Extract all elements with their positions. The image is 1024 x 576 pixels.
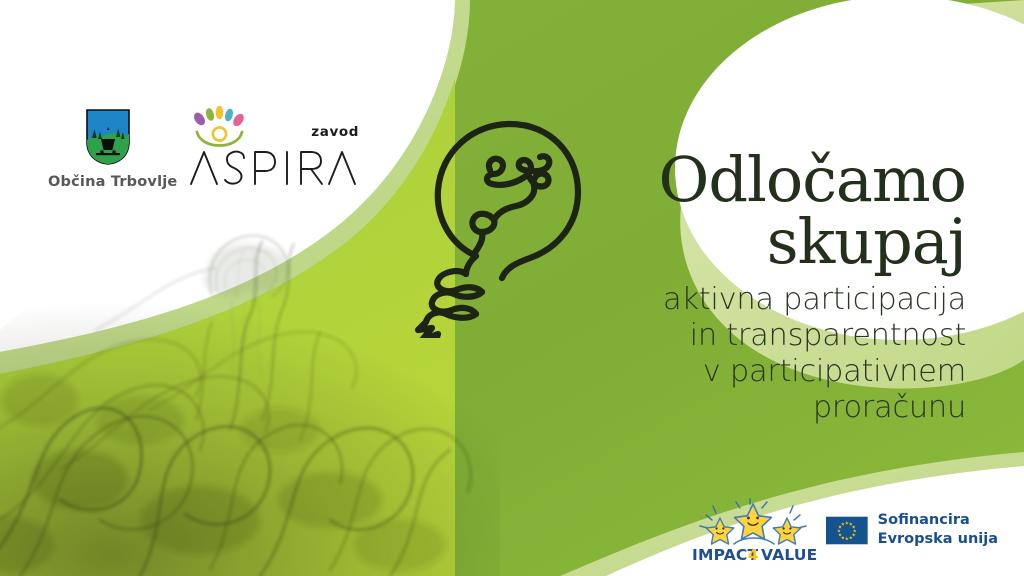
- aspira-mark-icon: zavod: [185, 106, 360, 192]
- subheadline-line-1: aktivna participacija: [536, 282, 966, 318]
- impact-separator-4: 4: [748, 546, 759, 564]
- subheadline-line-3: v participativnem: [536, 354, 966, 390]
- promotional-banner: Občina Trbovlje zavod: [0, 0, 1024, 576]
- values-word: VALUES: [761, 546, 818, 564]
- eu-cofunding-text: Sofinancira Evropska unija: [878, 511, 998, 548]
- obcina-trbovlje-logo[interactable]: Občina Trbovlje: [48, 108, 168, 190]
- subheadline-line-4: proračunu: [536, 390, 966, 426]
- partner-logos-top: Občina Trbovlje zavod: [0, 108, 380, 208]
- eu-text-line-2: Evropska unija: [878, 530, 998, 549]
- eu-flag-icon: [826, 506, 868, 555]
- headline: Odločamo skupaj: [546, 150, 966, 271]
- eu-cofunding-logo[interactable]: Sofinancira Evropska unija: [826, 506, 998, 554]
- trbovlje-crest-icon: [85, 108, 131, 166]
- headline-line-2: skupaj: [546, 212, 966, 272]
- funding-logos: IMPACT 4 VALUES: [690, 498, 1000, 568]
- subheadline: aktivna participacija in transparentnost…: [536, 282, 966, 426]
- obcina-trbovlje-label: Občina Trbovlje: [48, 174, 168, 190]
- headline-line-1: Odločamo: [546, 150, 966, 210]
- zavod-aspira-logo[interactable]: zavod: [185, 106, 360, 192]
- svg-text:zavod: zavod: [311, 124, 359, 140]
- subheadline-line-2: in transparentnost: [536, 318, 966, 354]
- impact4values-logo[interactable]: IMPACT 4 VALUES: [690, 498, 818, 564]
- eu-text-line-1: Sofinancira: [878, 511, 998, 530]
